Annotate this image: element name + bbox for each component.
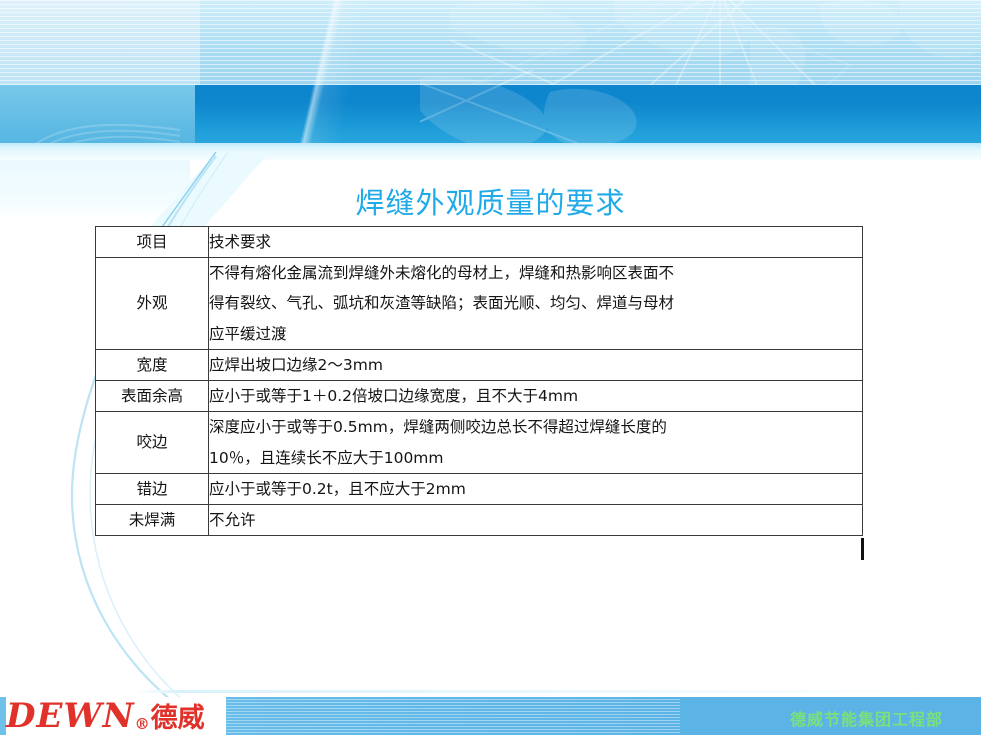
table-row: 咬边深度应小于或等于0.5mm，焊缝两侧咬边总长不得超过焊缝长度的10％，且连续…: [96, 412, 863, 473]
table-row: 未焊满不允许: [96, 504, 863, 535]
slide-footer: DEWN®德威 德威节能集团工程部: [0, 697, 981, 735]
table-row: 错边应小于或等于0.2t，且不应大于2mm: [96, 473, 863, 504]
table-cell-requirement: 深度应小于或等于0.5mm，焊缝两侧咬边总长不得超过焊缝长度的10％，且连续长不…: [209, 412, 863, 473]
spec-table-container: 项目技术要求外观不得有熔化金属流到焊缝外未熔化的母材上，焊缝和热影响区表面不得有…: [95, 226, 863, 688]
table-edge-marker: [861, 538, 864, 560]
table-cell-requirement: 应小于或等于1＋0.2倍坡口边缘宽度，且不大于4mm: [209, 381, 863, 412]
requirement-line: 应小于或等于1＋0.2倍坡口边缘宽度，且不大于4mm: [209, 381, 862, 411]
table-cell-item: 宽度: [96, 349, 209, 380]
footer-department-label: 德威节能集团工程部: [790, 706, 943, 730]
company-logo: DEWN®德威: [6, 697, 226, 735]
table-cell-item: 表面余高: [96, 381, 209, 412]
requirement-line: 10％，且连续长不应大于100mm: [209, 443, 862, 473]
table-row: 宽度应焊出坡口边缘2～3mm: [96, 349, 863, 380]
requirement-line: 得有裂纹、气孔、弧坑和灰渣等缺陷；表面光顺、均匀、焊道与母材: [209, 288, 862, 318]
table-cell-requirement: 不允许: [209, 504, 863, 535]
table-row: 项目技术要求: [96, 227, 863, 258]
requirement-line: 技术要求: [209, 227, 862, 257]
table-cell-item: 错边: [96, 473, 209, 504]
table-cell-requirement: 不得有熔化金属流到焊缝外未熔化的母材上，焊缝和热影响区表面不得有裂纹、气孔、弧坑…: [209, 258, 863, 350]
slide-header-banner: [0, 0, 981, 160]
logo-wordmark: DEWN®德威: [6, 699, 205, 733]
footer-top-divider: [0, 690, 981, 693]
table-cell-item: 未焊满: [96, 504, 209, 535]
logo-latin-text: DEWN: [6, 697, 135, 735]
table-cell-item: 咬边: [96, 412, 209, 473]
footer-line-texture: [225, 699, 680, 733]
table-row: 外观不得有熔化金属流到焊缝外未熔化的母材上，焊缝和热影响区表面不得有裂纹、气孔、…: [96, 258, 863, 350]
requirement-line: 应焊出坡口边缘2～3mm: [209, 350, 862, 380]
requirement-line: 应小于或等于0.2t，且不应大于2mm: [209, 474, 862, 504]
requirement-line: 应平缓过渡: [209, 319, 862, 349]
slide-title: 焊缝外观质量的要求: [0, 180, 981, 222]
table-cell-requirement: 应小于或等于0.2t，且不应大于2mm: [209, 473, 863, 504]
table-row: 表面余高应小于或等于1＋0.2倍坡口边缘宽度，且不大于4mm: [96, 381, 863, 412]
table-cell-item: 外观: [96, 258, 209, 350]
logo-chinese-text: 德威: [151, 703, 205, 734]
table-cell-requirement: 应焊出坡口边缘2～3mm: [209, 349, 863, 380]
requirement-line: 不允许: [209, 505, 862, 535]
table-column-header-item: 项目: [96, 227, 209, 258]
weld-appearance-spec-table: 项目技术要求外观不得有熔化金属流到焊缝外未熔化的母材上，焊缝和热影响区表面不得有…: [95, 226, 863, 536]
table-column-header-requirement: 技术要求: [209, 227, 863, 258]
registered-trademark-icon: ®: [135, 715, 151, 733]
banner-diagonal-highlight: [150, 0, 510, 160]
presentation-slide: 焊缝外观质量的要求 项目技术要求外观不得有熔化金属流到焊缝外未熔化的母材上，焊缝…: [0, 0, 981, 735]
requirement-line: 深度应小于或等于0.5mm，焊缝两侧咬边总长不得超过焊缝长度的: [209, 412, 862, 442]
requirement-line: 不得有熔化金属流到焊缝外未熔化的母材上，焊缝和热影响区表面不: [209, 258, 862, 288]
